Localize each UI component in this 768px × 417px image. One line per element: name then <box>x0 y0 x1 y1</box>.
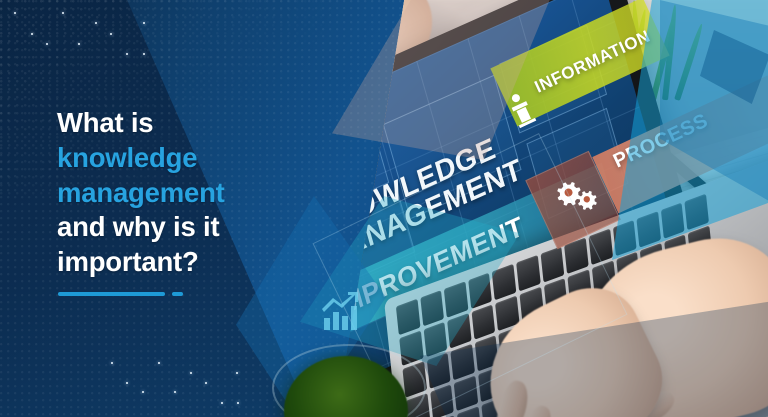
headline-line-1: What is <box>57 106 287 141</box>
headline-line-3: management <box>57 176 287 211</box>
headline-line-4: and why is it <box>57 210 287 245</box>
headline-line-5: important? <box>57 245 287 280</box>
divider-long-segment <box>58 292 165 296</box>
bar-chart-growth-icon <box>322 292 364 332</box>
headline-line-2: knowledge <box>57 141 287 176</box>
hero-banner: KNOWLEDGE MANAGEMENT IMPROVEMENT <box>0 0 768 417</box>
headline: What is knowledge management and why is … <box>57 106 287 280</box>
divider-short-segment <box>172 292 183 296</box>
headline-divider <box>58 292 183 296</box>
